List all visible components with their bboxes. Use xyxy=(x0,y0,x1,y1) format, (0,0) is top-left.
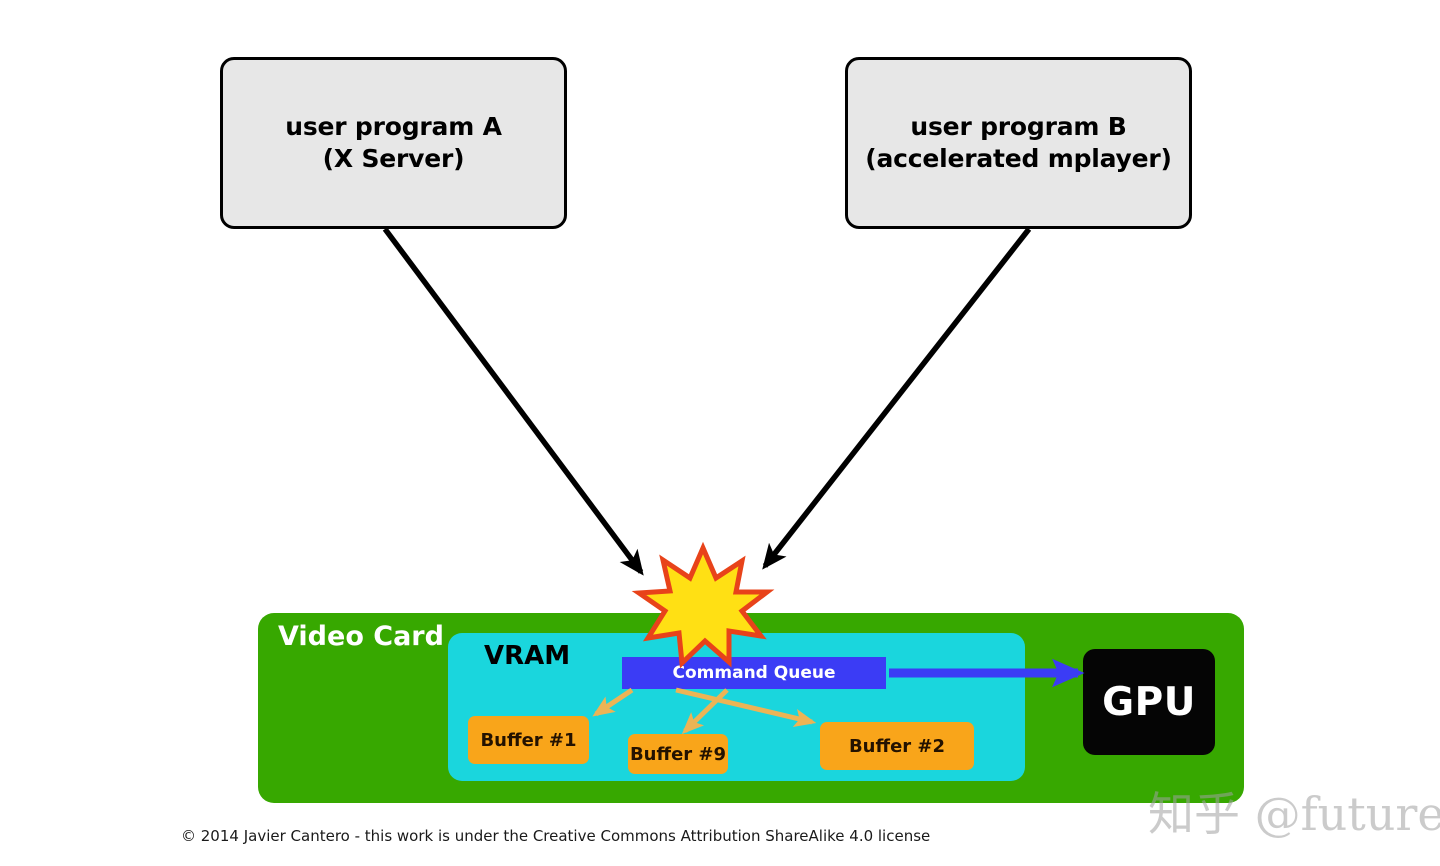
gpu-label: GPU xyxy=(1102,680,1196,725)
buffer-9-label: Buffer #9 xyxy=(630,744,726,765)
diagram-canvas: user program A (X Server) user program B… xyxy=(0,0,1440,866)
watermark-handle: @future xyxy=(1255,787,1440,841)
buffer-1-label: Buffer #1 xyxy=(480,730,576,751)
user-program-b-line2: (accelerated mplayer) xyxy=(865,143,1172,175)
buffer-1-box: Buffer #1 xyxy=(468,716,589,764)
user-program-b-text: user program B (accelerated mplayer) xyxy=(865,111,1172,175)
user-program-b-line1: user program B xyxy=(910,112,1126,141)
buffer-2-label: Buffer #2 xyxy=(849,736,945,757)
user-program-a-text: user program A (X Server) xyxy=(285,111,501,175)
arrow-program-a-to-collision xyxy=(385,229,641,572)
video-card-label: Video Card xyxy=(278,621,444,652)
buffer-2-box: Buffer #2 xyxy=(820,722,974,770)
user-program-b-box: user program B (accelerated mplayer) xyxy=(845,57,1192,229)
command-queue-box: Command Queue xyxy=(622,657,886,689)
license-footer: © 2014 Javier Cantero - this work is und… xyxy=(181,827,930,845)
user-program-a-line2: (X Server) xyxy=(285,143,501,175)
buffer-9-box: Buffer #9 xyxy=(628,734,728,774)
vram-label: VRAM xyxy=(484,641,570,671)
arrow-program-b-to-collision xyxy=(765,229,1029,566)
gpu-box: GPU xyxy=(1083,649,1215,755)
user-program-a-box: user program A (X Server) xyxy=(220,57,567,229)
user-program-a-line1: user program A xyxy=(285,112,501,141)
command-queue-label: Command Queue xyxy=(673,663,836,683)
